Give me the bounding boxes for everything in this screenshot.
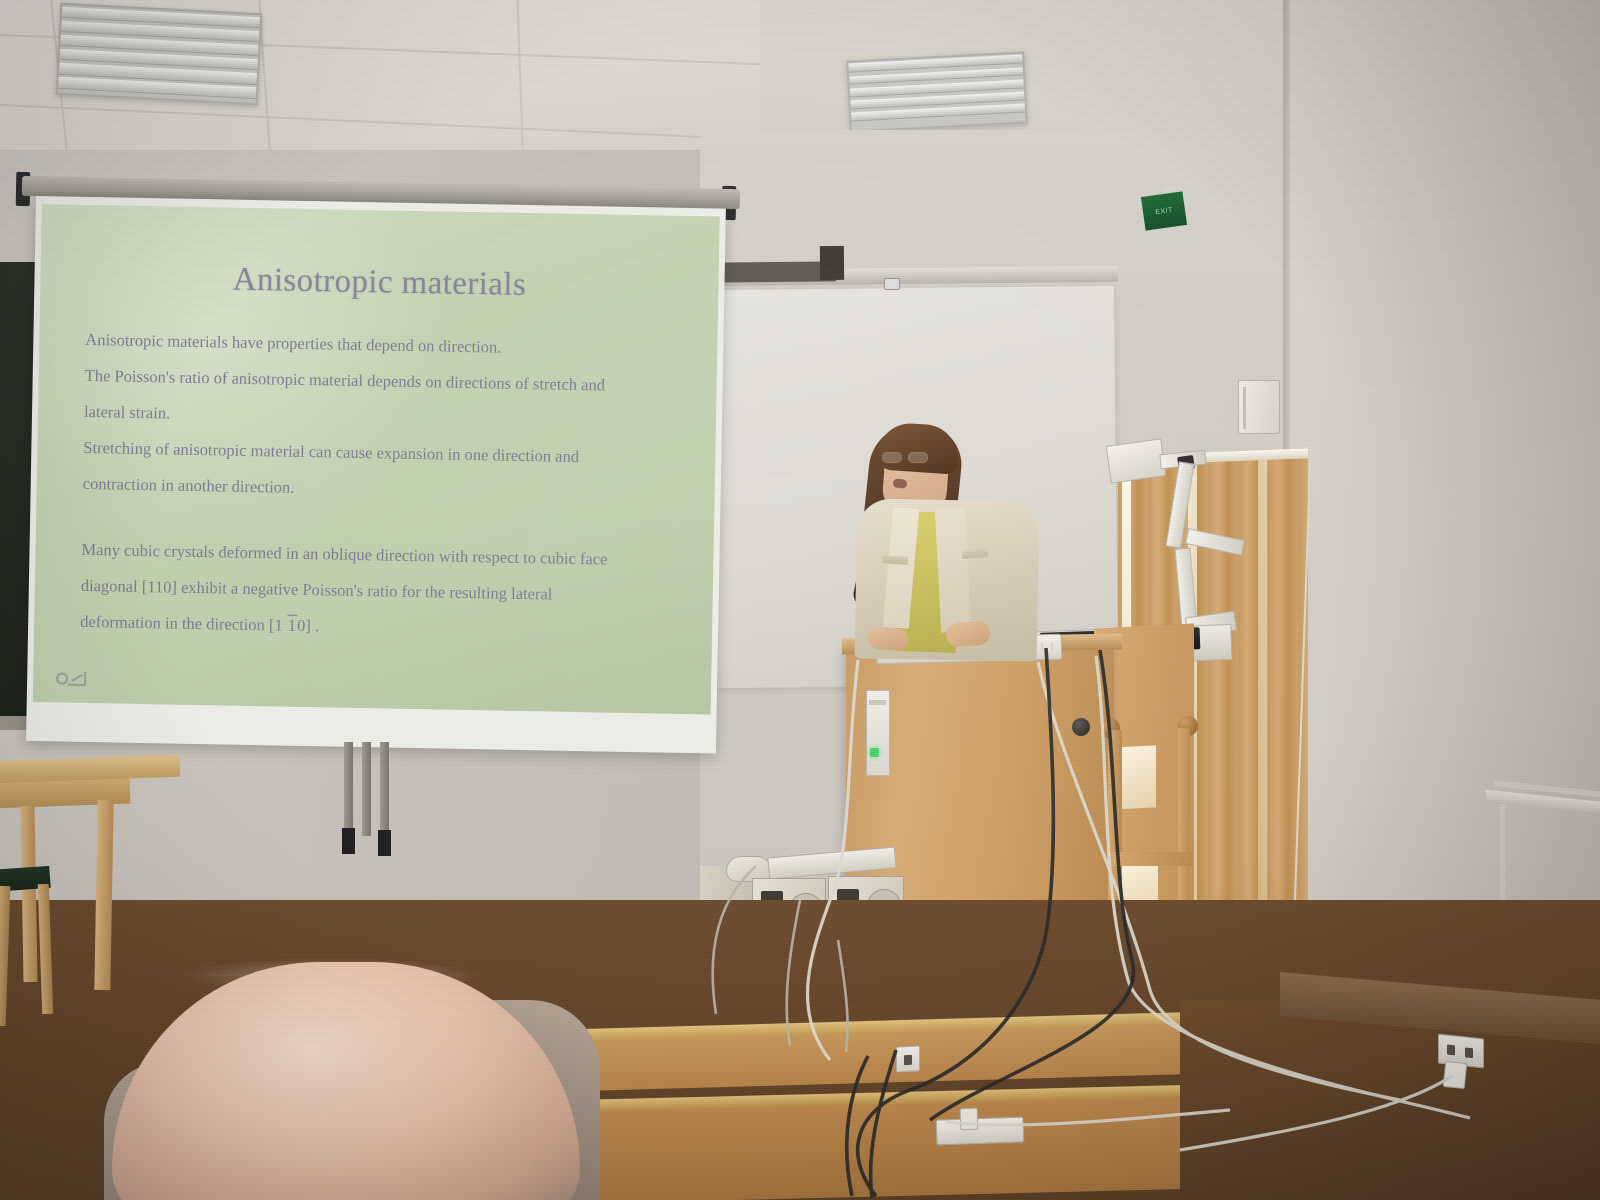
power-strip-plug: [960, 1108, 979, 1131]
overhead-projector-head: [1106, 438, 1167, 483]
jacket-pocket-left: [882, 555, 908, 565]
lectern-frame-rail: [1108, 852, 1192, 866]
power-strip[interactable]: [936, 1116, 1025, 1145]
power-led-icon: [870, 748, 879, 757]
presenter-mouth: [893, 478, 908, 488]
miller-index-overbar: 1: [287, 615, 298, 635]
ceiling-light-fixture: [56, 3, 263, 105]
slide-body: Anisotropic materials have properties th…: [80, 322, 672, 651]
exit-sign: EXIT: [1139, 189, 1190, 233]
slide: Anisotropic materials Anisotropic materi…: [33, 204, 720, 714]
exit-sign-label: EXIT: [1155, 206, 1173, 215]
presenter-hand-right: [945, 620, 991, 647]
rail-block: [820, 246, 844, 280]
wall-outlet-2[interactable]: [896, 1045, 920, 1072]
glasses-icon: [882, 452, 930, 464]
whiteboard-rail-dark: [712, 261, 836, 282]
slide-logo-icon: [55, 666, 107, 689]
presenter-lapel-right: [935, 507, 971, 632]
lectern-knob-dark[interactable]: [1072, 718, 1090, 736]
lectern-slot: [869, 700, 886, 705]
presenter-hand-left: [867, 627, 908, 652]
projection-screen: Anisotropic materials Anisotropic materi…: [26, 196, 726, 754]
screen-hangers: [330, 742, 410, 852]
table-leg-1: [94, 800, 113, 990]
slide-line-8-text: deformation in the direction [1: [80, 612, 287, 635]
slide-title: Anisotropic materials: [86, 259, 673, 307]
miller-index-tail: 0] .: [297, 616, 319, 635]
small-camera: [884, 278, 900, 290]
plug: [1443, 1061, 1468, 1089]
wall-mounted-box: [1238, 380, 1280, 434]
lecture-room-photo: EXIT Anisotropic materials Anisotropic m…: [0, 0, 1600, 1200]
ceiling-light-fixture-2: [846, 51, 1028, 132]
screen-surface: Anisotropic materials Anisotropic materi…: [33, 204, 720, 714]
